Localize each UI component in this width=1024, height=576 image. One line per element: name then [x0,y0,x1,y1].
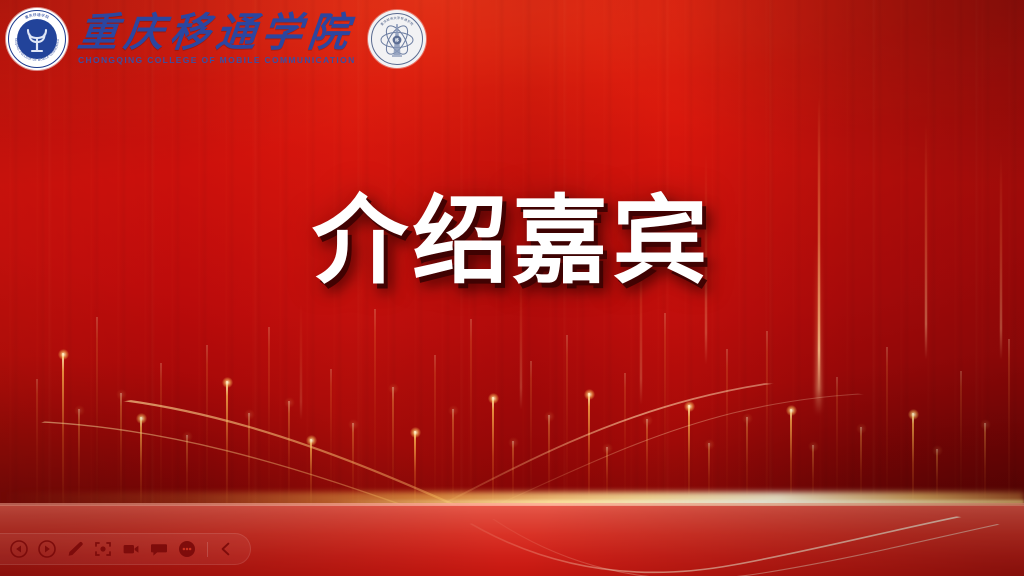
university-seal-icon: 重庆移通学院 CHONGQING COLLEGE OF MOBILE COMMU… [6,8,68,70]
collapse-toolbar-button[interactable] [215,538,237,560]
video-button[interactable] [120,538,142,560]
branding-header: 重庆移通学院 CHONGQING COLLEGE OF MOBILE COMMU… [0,0,426,78]
next-slide-button[interactable] [36,538,58,560]
presentation-toolbar[interactable] [0,533,251,565]
laser-pointer-button[interactable] [92,538,114,560]
speech-bubble-icon [150,540,168,558]
tower-atom-emblem-icon: 重庆邮电大学移通学院 移 [368,10,426,68]
wordmark-chinese: 重庆移通学院 [76,12,358,54]
emblem-graphic: 重庆邮电大学移通学院 移 [368,10,426,68]
presentation-slide: 重庆移通学院 CHONGQING COLLEGE OF MOBILE COMMU… [0,0,1024,576]
more-options-button[interactable] [176,538,198,560]
seal-emblem-mark [6,8,68,70]
video-camera-icon [122,540,140,558]
previous-slide-button[interactable] [8,538,30,560]
svg-text:移: 移 [395,37,399,43]
comment-button[interactable] [148,538,170,560]
more-dots-circle-icon [178,540,196,558]
slide-title: 介绍嘉宾 [0,186,1024,298]
university-wordmark: 重庆移通学院 CHONGQING COLLEGE OF MOBILE COMMU… [78,12,356,66]
toolbar-divider [207,542,208,557]
pencil-icon [66,540,84,558]
next-circle-icon [38,540,56,558]
wordmark-english: CHONGQING COLLEGE OF MOBILE COMMUNICATIO… [78,55,356,66]
chevron-left-icon [218,541,234,557]
previous-circle-icon [10,540,28,558]
pen-tool-button[interactable] [64,538,86,560]
focus-brackets-icon [94,540,112,558]
seal-year-label: 2000.8 [6,52,68,57]
